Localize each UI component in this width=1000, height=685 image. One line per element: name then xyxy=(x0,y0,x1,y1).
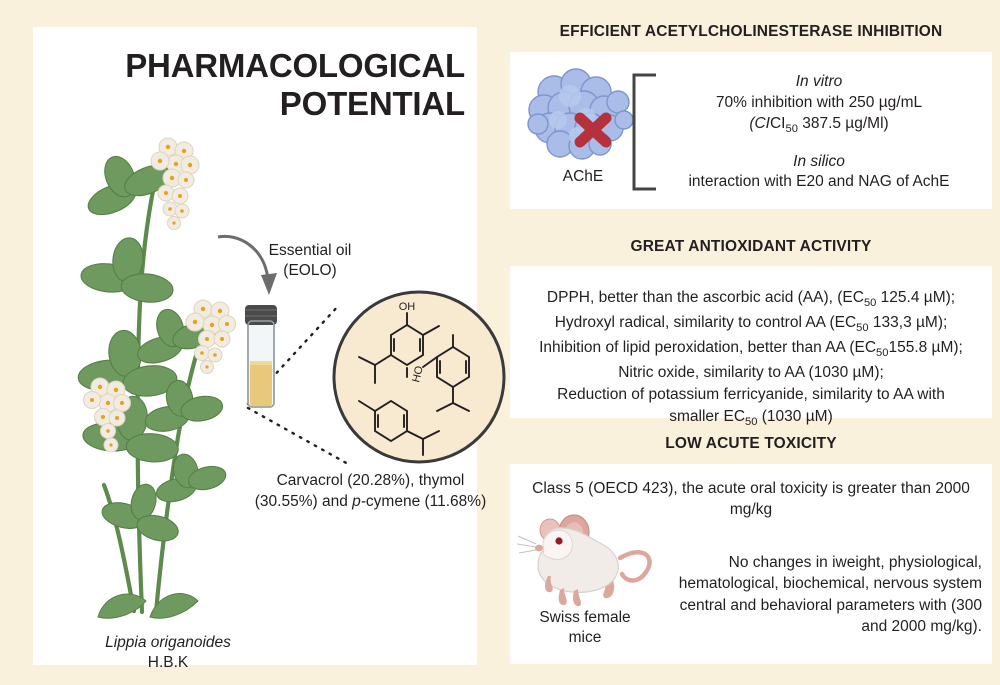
species-caption: Lippia origanoides H.B.K xyxy=(53,633,283,673)
composition-line-2-prefix: (30.55%) and xyxy=(255,493,352,510)
enzyme-label: AChE xyxy=(518,168,648,186)
antioxidant-line: Reduction of potassium ferricyanide, sim… xyxy=(520,384,982,406)
composition-line-2-italic: p- xyxy=(352,493,366,510)
in-vitro-line-2-ci50: CI50 xyxy=(770,115,798,132)
essential-oil-vial-icon xyxy=(236,299,286,411)
species-authority: H.B.K xyxy=(53,653,283,673)
essential-oil-label-line-1: Essential oil xyxy=(269,242,352,259)
section-heading-ache-inhibition: EFFICIENT ACETYLCHOLINESTERASE INHIBITIO… xyxy=(505,23,997,41)
page-title-line-1: PHARMACOLOGICAL xyxy=(125,47,465,84)
antioxidant-line: smaller EC50 (1030 µM) xyxy=(520,406,982,431)
antioxidant-results-text: DPPH, better than the ascorbic acid (AA)… xyxy=(520,287,982,431)
antioxidant-line: DPPH, better than the ascorbic acid (AA)… xyxy=(520,287,982,312)
in-vitro-line-2-prefix: (CI xyxy=(749,115,770,132)
essential-oil-label-line-2: (EOLO) xyxy=(283,262,336,279)
structure-oh-label: OH xyxy=(399,301,416,313)
antioxidant-line: Inhibition of lipid peroxidation, better… xyxy=(520,337,982,362)
swiss-mouse-icon xyxy=(516,506,660,611)
composition-line-2-suffix: cymene (11.68%) xyxy=(366,493,486,510)
ache-enzyme-icon xyxy=(524,66,642,166)
in-vitro-line-1: 70% inhibition with 250 µg/mL xyxy=(716,94,922,111)
animal-label: Swiss female mice xyxy=(510,608,660,648)
antioxidant-line: Hydroxyl radical, similarity to control … xyxy=(520,312,982,337)
section-heading-antioxidant-activity: GREAT ANTIOXIDANT ACTIVITY xyxy=(505,238,997,256)
in-silico-line: interaction with E20 and NAG of AchE xyxy=(688,173,949,190)
ache-inhibition-panel: AChE In vitro 70% inhibition with 250 µg… xyxy=(510,52,992,209)
ache-results-text: In vitro 70% inhibition with 250 µg/mL (… xyxy=(660,72,978,193)
magnifier-circle-icon: OH HO xyxy=(331,289,507,465)
composition-line-1: Carvacrol (20.28%), thymol xyxy=(277,472,465,489)
essential-oil-label: Essential oil (EOLO) xyxy=(245,241,375,282)
section-heading-acute-toxicity: LOW ACUTE TOXICITY xyxy=(505,435,997,453)
in-silico-label: In silico xyxy=(793,153,845,170)
ci50-subscript: 50 xyxy=(785,123,797,135)
antioxidant-line: Nitric oxide, similarity to AA (1030 µM)… xyxy=(520,362,982,384)
bracket-icon xyxy=(630,72,658,192)
pharmacological-potential-panel: PHARMACOLOGICAL POTENTIAL xyxy=(33,27,477,665)
composition-caption: Carvacrol (20.28%), thymol (30.55%) and … xyxy=(228,471,513,513)
page-title-line-2: POTENTIAL xyxy=(280,85,465,122)
in-vitro-line-2-suffix: 387.5 µg/Ml) xyxy=(798,115,889,132)
toxicity-findings-text: No changes in iweight, physiological, he… xyxy=(650,552,982,638)
animal-label-line-1: Swiss female xyxy=(539,609,630,626)
lippia-origanoides-plant-icon xyxy=(38,87,248,627)
antioxidant-activity-panel: DPPH, better than the ascorbic acid (AA)… xyxy=(510,266,992,418)
in-vitro-label: In vitro xyxy=(796,73,843,90)
species-name: Lippia origanoides xyxy=(53,633,283,653)
acute-toxicity-panel: Class 5 (OECD 423), the acute oral toxic… xyxy=(510,464,992,664)
animal-label-line-2: mice xyxy=(569,629,602,646)
